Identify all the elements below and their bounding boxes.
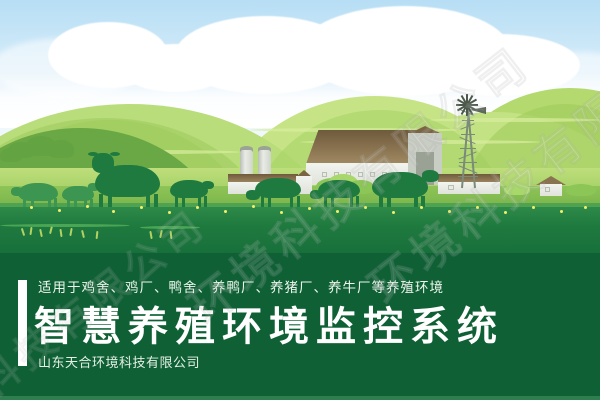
windmill-rung <box>460 148 476 149</box>
accent-bar <box>18 280 27 366</box>
barn-window <box>322 172 327 177</box>
cow-body <box>372 172 428 198</box>
cow-head <box>246 190 260 200</box>
cow-head <box>310 190 323 199</box>
farm-landscape-illustration <box>0 0 600 253</box>
foreground-field <box>0 207 600 253</box>
company-name: 山东天合环境科技有限公司 <box>38 356 200 369</box>
bush <box>504 184 530 195</box>
tree-clump <box>0 148 22 162</box>
farmhouse-wall <box>540 184 562 196</box>
barn-window <box>358 172 363 177</box>
banner-bottom-strip <box>0 396 600 400</box>
cow-head <box>92 153 114 173</box>
outbuilding-window <box>448 185 454 190</box>
cow-head <box>11 187 24 196</box>
tree-clump <box>48 140 74 158</box>
windmill-rung <box>462 120 474 121</box>
cow-head <box>422 170 439 182</box>
windmill-rung <box>458 176 478 177</box>
barn-window <box>370 172 375 177</box>
bush <box>566 184 596 196</box>
promo-banner-card: 适用于鸡舍、鸡厂、鸭舍、养鸭厂、养猪厂、养牛厂等养殖环境 智慧养殖环境监控系统 … <box>0 0 600 400</box>
field-stripe <box>430 118 600 122</box>
cow-horn <box>88 152 98 156</box>
cow-horn <box>110 152 120 156</box>
windmill-rung <box>461 134 475 135</box>
banner-subtitle: 适用于鸡舍、鸡厂、鸭舍、养鸭厂、养猪厂、养牛厂等养殖环境 <box>38 281 444 295</box>
cow-head <box>202 181 214 189</box>
windmill-rung <box>459 162 477 163</box>
cow-body <box>255 178 301 198</box>
farmhouse-window <box>545 187 550 192</box>
banner-title: 智慧养殖环境监控系统 <box>34 306 504 349</box>
